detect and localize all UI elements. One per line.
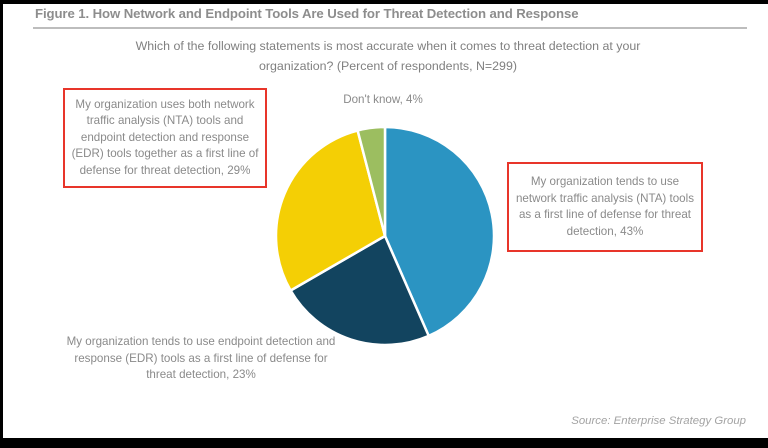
callout-nta-first-text: My organization tends to use network tra… bbox=[515, 174, 695, 240]
figure-title: Figure 1. How Network and Endpoint Tools… bbox=[35, 6, 741, 21]
label-dont-know: Don't know, 4% bbox=[311, 92, 455, 109]
callout-both-tools-text: My organization uses both network traffi… bbox=[71, 97, 259, 180]
callout-both-tools: My organization uses both network traffi… bbox=[63, 88, 267, 188]
callout-nta-first: My organization tends to use network tra… bbox=[507, 162, 703, 252]
pie-chart-svg bbox=[275, 126, 495, 346]
pie-chart bbox=[275, 126, 495, 346]
source-attribution: Source: Enterprise Strategy Group bbox=[571, 415, 746, 427]
figure-subtitle: Which of the following statements is mos… bbox=[107, 36, 669, 76]
figure-page: Figure 1. How Network and Endpoint Tools… bbox=[0, 0, 768, 448]
title-divider bbox=[33, 27, 747, 29]
label-edr-first: My organization tends to use endpoint de… bbox=[61, 334, 341, 384]
